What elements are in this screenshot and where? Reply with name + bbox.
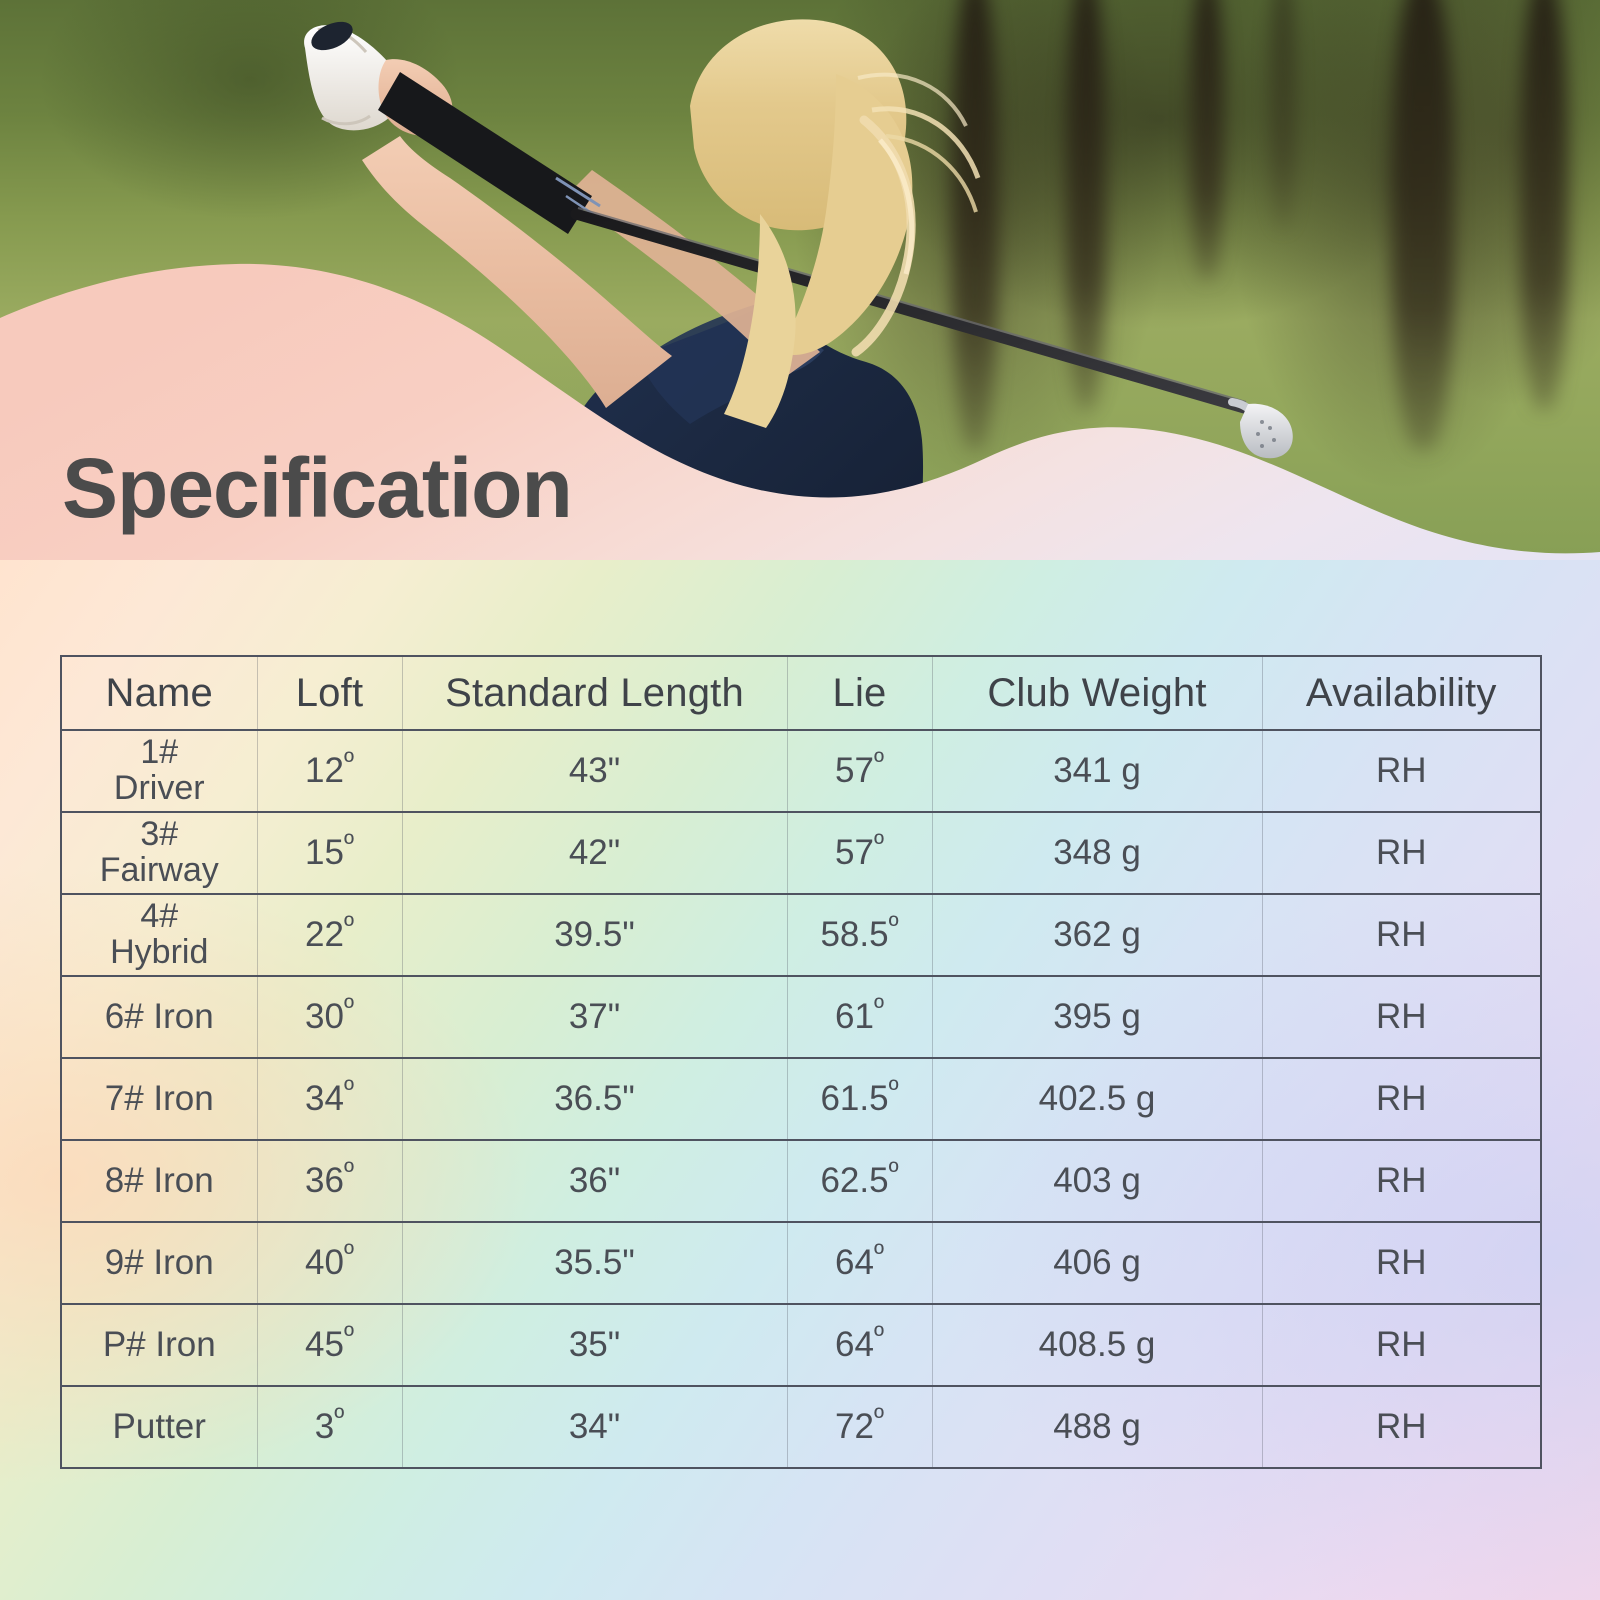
cell-weight: 395 g [932, 976, 1262, 1058]
cell-availability: RH [1262, 1222, 1541, 1304]
column-header-name: Name [61, 656, 257, 730]
cell-loft: 36º [257, 1140, 402, 1222]
cell-length: 43" [402, 730, 787, 812]
column-header-lie: Lie [787, 656, 932, 730]
degree-icon: º [889, 1155, 899, 1186]
table-row: Putter 3º 34" 72º 488 g RH [61, 1386, 1541, 1468]
cell-length: 42" [402, 812, 787, 894]
cell-weight: 362 g [932, 894, 1262, 976]
lie-value: 72 [835, 1407, 874, 1446]
cell-lie: 57º [787, 812, 932, 894]
table-row: 4# Hybrid 22º 39.5" 58.5º 362 g RH [61, 894, 1541, 976]
cell-lie: 62.5º [787, 1140, 932, 1222]
loft-value: 45 [305, 1325, 344, 1364]
loft-value: 36 [305, 1161, 344, 1200]
cell-lie: 64º [787, 1304, 932, 1386]
cell-lie: 64º [787, 1222, 932, 1304]
column-header-club-weight: Club Weight [932, 656, 1262, 730]
cell-name-line1: 4# [62, 899, 257, 935]
cell-weight: 406 g [932, 1222, 1262, 1304]
degree-icon: º [874, 991, 884, 1022]
specification-table: Name Loft Standard Length Lie Club Weigh… [60, 655, 1542, 1469]
cell-length: 35" [402, 1304, 787, 1386]
cell-loft: 30º [257, 976, 402, 1058]
loft-value: 12 [305, 751, 344, 790]
degree-icon: º [344, 1237, 354, 1268]
degree-icon: º [889, 1073, 899, 1104]
table-row: P# Iron 45º 35" 64º 408.5 g RH [61, 1304, 1541, 1386]
table-row: 3# Fairway 15º 42" 57º 348 g RH [61, 812, 1541, 894]
table-row: 7# Iron 34º 36.5" 61.5º 402.5 g RH [61, 1058, 1541, 1140]
degree-icon: º [889, 909, 899, 940]
page-title: Specification [62, 446, 572, 530]
cell-loft: 3º [257, 1386, 402, 1468]
loft-value: 40 [305, 1243, 344, 1282]
degree-icon: º [344, 827, 354, 858]
degree-icon: º [874, 1237, 884, 1268]
cell-name: 7# Iron [61, 1058, 257, 1140]
cell-name: 9# Iron [61, 1222, 257, 1304]
cell-lie: 57º [787, 730, 932, 812]
cell-loft: 40º [257, 1222, 402, 1304]
cell-availability: RH [1262, 1304, 1541, 1386]
cell-availability: RH [1262, 1140, 1541, 1222]
cell-length: 39.5" [402, 894, 787, 976]
degree-icon: º [344, 909, 354, 940]
cell-lie: 58.5º [787, 894, 932, 976]
lie-value: 64 [835, 1325, 874, 1364]
loft-value: 15 [305, 833, 344, 872]
cell-name-line2: Hybrid [62, 935, 257, 971]
cell-availability: RH [1262, 812, 1541, 894]
cell-loft: 15º [257, 812, 402, 894]
degree-icon: º [874, 827, 884, 858]
lie-value: 64 [835, 1243, 874, 1282]
cell-length: 36" [402, 1140, 787, 1222]
lie-value: 61.5 [820, 1079, 888, 1118]
cell-availability: RH [1262, 730, 1541, 812]
cell-name-line1: 1# [62, 735, 257, 771]
table-row: 6# Iron 30º 37" 61º 395 g RH [61, 976, 1541, 1058]
degree-icon: º [344, 1073, 354, 1104]
degree-icon: º [334, 1401, 344, 1432]
cell-lie: 61º [787, 976, 932, 1058]
cell-lie: 72º [787, 1386, 932, 1468]
cell-name-line2: Fairway [62, 853, 257, 889]
cell-loft: 45º [257, 1304, 402, 1386]
table-body: 1# Driver 12º 43" 57º 341 g RH 3# Fairwa… [61, 730, 1541, 1468]
loft-value: 3 [315, 1407, 334, 1446]
column-header-availability: Availability [1262, 656, 1541, 730]
cell-availability: RH [1262, 1058, 1541, 1140]
loft-value: 34 [305, 1079, 344, 1118]
column-header-standard-length: Standard Length [402, 656, 787, 730]
cell-name: Putter [61, 1386, 257, 1468]
cell-name: 1# Driver [61, 730, 257, 812]
degree-icon: º [344, 1319, 354, 1350]
cell-length: 34" [402, 1386, 787, 1468]
degree-icon: º [344, 1155, 354, 1186]
lie-value: 58.5 [820, 915, 888, 954]
degree-icon: º [344, 991, 354, 1022]
degree-icon: º [874, 745, 884, 776]
table-row: 9# Iron 40º 35.5" 64º 406 g RH [61, 1222, 1541, 1304]
cell-name: 3# Fairway [61, 812, 257, 894]
degree-icon: º [874, 1319, 884, 1350]
cell-availability: RH [1262, 1386, 1541, 1468]
cell-weight: 341 g [932, 730, 1262, 812]
cell-loft: 22º [257, 894, 402, 976]
cell-name: 8# Iron [61, 1140, 257, 1222]
lie-value: 62.5 [820, 1161, 888, 1200]
cell-name: 6# Iron [61, 976, 257, 1058]
loft-value: 22 [305, 915, 344, 954]
cell-weight: 488 g [932, 1386, 1262, 1468]
cell-length: 36.5" [402, 1058, 787, 1140]
cell-name-line2: Driver [62, 771, 257, 807]
cell-loft: 34º [257, 1058, 402, 1140]
lie-value: 61 [835, 997, 874, 1036]
cell-loft: 12º [257, 730, 402, 812]
cell-lie: 61.5º [787, 1058, 932, 1140]
cell-weight: 408.5 g [932, 1304, 1262, 1386]
degree-icon: º [344, 745, 354, 776]
cell-length: 37" [402, 976, 787, 1058]
lie-value: 57 [835, 833, 874, 872]
cell-availability: RH [1262, 894, 1541, 976]
cell-length: 35.5" [402, 1222, 787, 1304]
cell-availability: RH [1262, 976, 1541, 1058]
specification-page: Specification Name Loft Standard Length … [0, 0, 1600, 1600]
table-row: 1# Driver 12º 43" 57º 341 g RH [61, 730, 1541, 812]
cell-name: P# Iron [61, 1304, 257, 1386]
column-header-loft: Loft [257, 656, 402, 730]
lie-value: 57 [835, 751, 874, 790]
cell-weight: 402.5 g [932, 1058, 1262, 1140]
table-row: 8# Iron 36º 36" 62.5º 403 g RH [61, 1140, 1541, 1222]
cell-weight: 403 g [932, 1140, 1262, 1222]
loft-value: 30 [305, 997, 344, 1036]
table-header-row: Name Loft Standard Length Lie Club Weigh… [61, 656, 1541, 730]
cell-name-line1: 3# [62, 817, 257, 853]
cell-name: 4# Hybrid [61, 894, 257, 976]
specification-table-wrapper: Name Loft Standard Length Lie Club Weigh… [60, 655, 1540, 1469]
degree-icon: º [874, 1401, 884, 1432]
cell-weight: 348 g [932, 812, 1262, 894]
